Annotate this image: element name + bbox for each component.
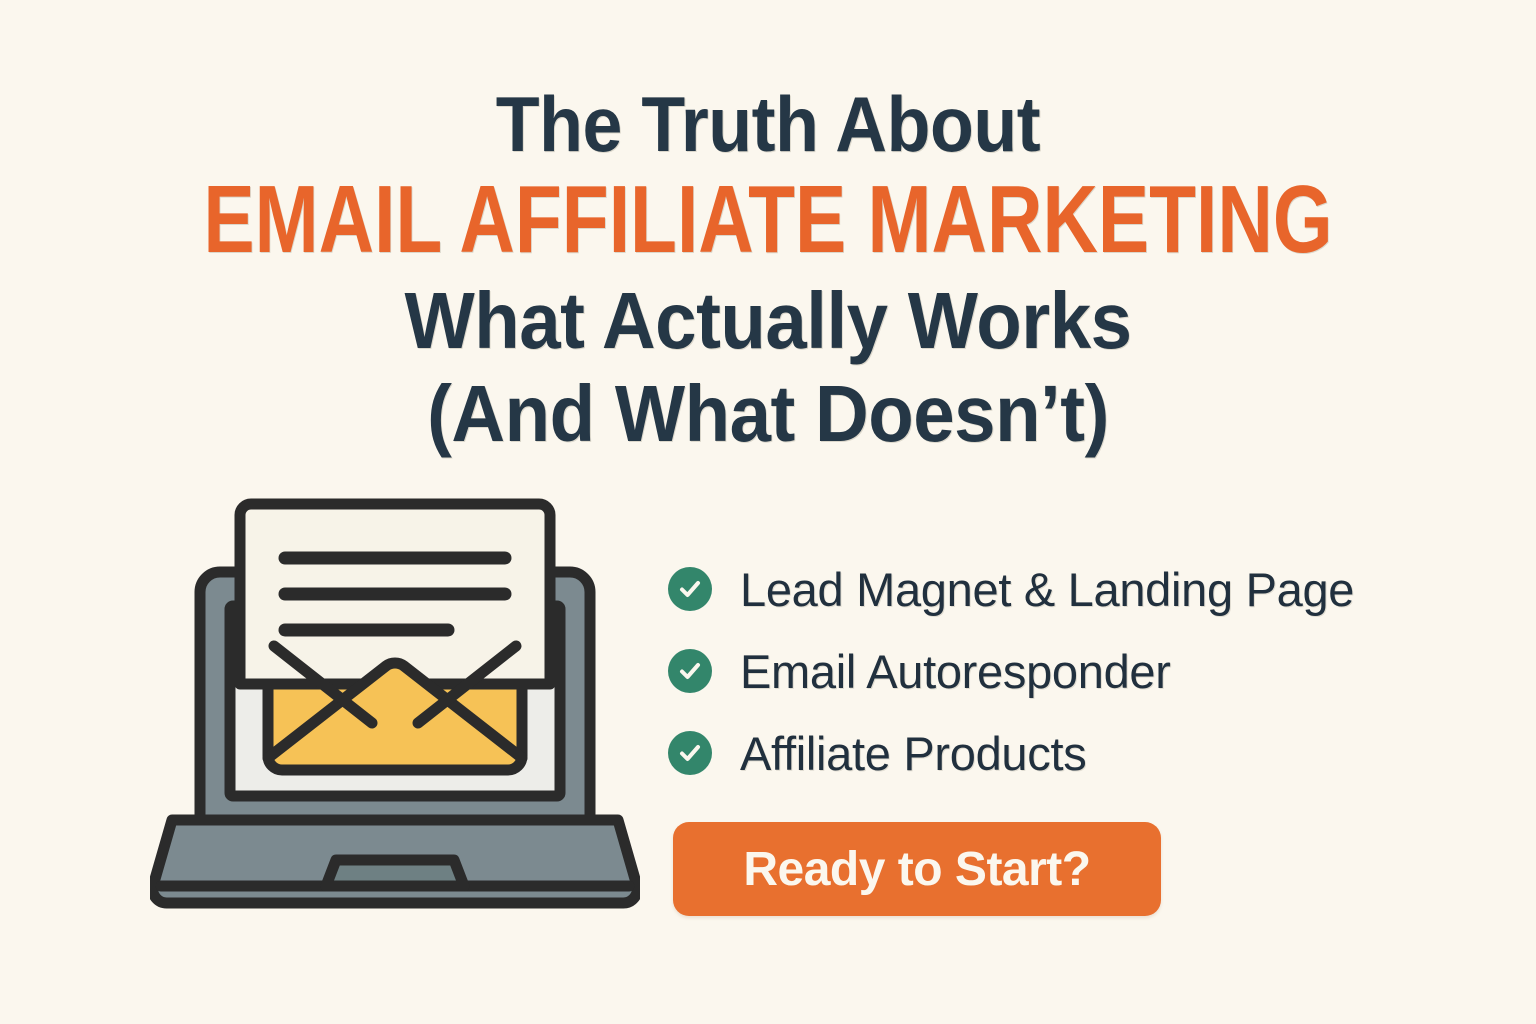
benefits-column: Lead Magnet & Landing Page Email Autores… bbox=[668, 548, 1468, 794]
check-circle-icon bbox=[668, 649, 712, 693]
headline-line-2-emphasis: EMAIL AFFILIATE MARKETING bbox=[154, 170, 1383, 270]
checklist-item-label: Affiliate Products bbox=[740, 726, 1086, 781]
headline-line-1: The Truth About bbox=[61, 80, 1474, 168]
headline-block: The Truth About EMAIL AFFILIATE MARKETIN… bbox=[0, 80, 1536, 460]
list-item: Affiliate Products bbox=[668, 712, 1468, 794]
checklist-item-label: Lead Magnet & Landing Page bbox=[740, 562, 1354, 617]
poster-canvas: The Truth About EMAIL AFFILIATE MARKETIN… bbox=[0, 0, 1536, 1024]
list-item: Lead Magnet & Landing Page bbox=[668, 548, 1468, 630]
ready-to-start-button[interactable]: Ready to Start? bbox=[673, 822, 1161, 916]
check-circle-icon bbox=[668, 731, 712, 775]
headline-line-4: (And What Doesn’t) bbox=[54, 368, 1482, 460]
laptop-envelope-illustration bbox=[150, 488, 640, 940]
check-circle-icon bbox=[668, 567, 712, 611]
checklist-item-label: Email Autoresponder bbox=[740, 644, 1171, 699]
list-item: Email Autoresponder bbox=[668, 630, 1468, 712]
checklist: Lead Magnet & Landing Page Email Autores… bbox=[668, 548, 1468, 794]
headline-line-3: What Actually Works bbox=[54, 274, 1482, 368]
laptop-trackpad bbox=[326, 860, 464, 886]
